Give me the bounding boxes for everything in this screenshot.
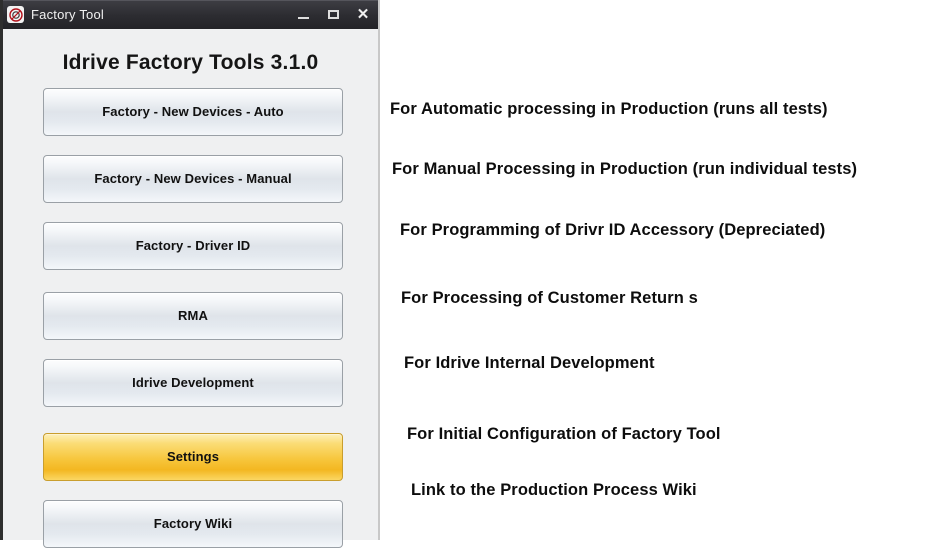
window-body: Idrive Factory Tools 3.1.0 Factory - New… — [3, 29, 378, 540]
factory-tool-window: Factory Tool ✕ Idrive Factory Tools 3.1.… — [0, 0, 380, 540]
description-settings: For Initial Configuration of Factory Too… — [407, 425, 721, 444]
description-rma: For Processing of Customer Return s — [401, 289, 698, 308]
maximize-icon[interactable] — [318, 0, 348, 29]
window-controls: ✕ — [288, 0, 378, 29]
close-icon[interactable]: ✕ — [348, 0, 378, 29]
description-factory-driver-id: For Programming of Drivr ID Accessory (D… — [400, 221, 825, 240]
button-rma[interactable]: RMA — [43, 292, 343, 340]
button-factory-wiki[interactable]: Factory Wiki — [43, 500, 343, 548]
description-factory-new-devices-manual: For Manual Processing in Production (run… — [392, 160, 857, 179]
button-idrive-development[interactable]: Idrive Development — [43, 359, 343, 407]
description-factory-new-devices-auto: For Automatic processing in Production (… — [390, 100, 828, 119]
description-column: For Automatic processing in Production (… — [382, 0, 948, 540]
title-bar[interactable]: Factory Tool ✕ — [3, 0, 378, 29]
description-factory-wiki: Link to the Production Process Wiki — [411, 481, 697, 500]
page-title: Idrive Factory Tools 3.1.0 — [3, 29, 378, 75]
button-factory-new-devices-manual[interactable]: Factory - New Devices - Manual — [43, 155, 343, 203]
main-button-stack: Factory - New Devices - Auto Factory - N… — [43, 88, 343, 560]
button-factory-new-devices-auto[interactable]: Factory - New Devices - Auto — [43, 88, 343, 136]
minimize-icon[interactable] — [288, 0, 318, 29]
description-idrive-development: For Idrive Internal Development — [404, 354, 655, 373]
app-logo-icon — [7, 6, 24, 23]
window-title: Factory Tool — [31, 7, 104, 22]
button-factory-driver-id[interactable]: Factory - Driver ID — [43, 222, 343, 270]
button-settings[interactable]: Settings — [43, 433, 343, 481]
